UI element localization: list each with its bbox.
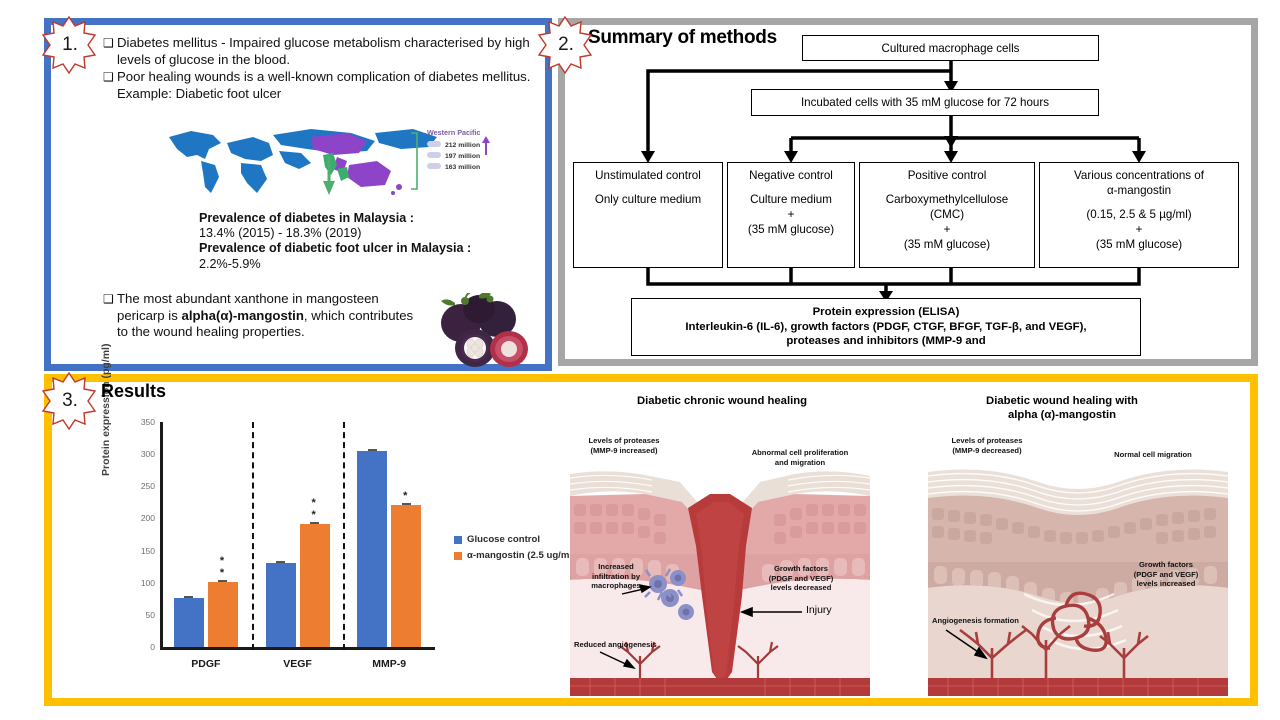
flow-box-title: Positive control [864, 168, 1030, 183]
map-value-0: 212 million [445, 142, 480, 149]
list-item: ❑ Diabetes mellitus - Impaired glucose m… [103, 35, 543, 68]
section-badge-number: 3. [60, 390, 78, 412]
wound-illustration-chronic: Levels of proteases (MMP-9 increased) Ab… [570, 434, 870, 696]
annotation-angiogenesis-formation: Angiogenesis formation [932, 616, 1019, 626]
list-item: ❑ Poor healing wounds is a well-known co… [103, 69, 543, 102]
illustration-title-left: Diabetic chronic wound healing [572, 394, 872, 408]
flow-box-line: proteases and inhibitors (MMP-9 and [636, 334, 1136, 349]
chart-significance-marker: * [312, 497, 316, 509]
chart-error-bar [368, 449, 377, 451]
diabetes-prevalence-value: 13.4% (2015) - 18.3% (2019) [199, 226, 539, 241]
mangosteen-text-bold: alpha(α)-mangostin [182, 308, 304, 323]
annotation-line: (PDGF and VEGF) [746, 574, 856, 584]
annotation-line: and migration [738, 458, 862, 468]
chart-x-tick-label: PDGF [191, 658, 220, 670]
methods-panel: Cultured macrophage cells Incubated cell… [558, 18, 1258, 366]
checkbox-bullet-icon: ❑ [103, 69, 117, 102]
annotation-growth-factors-left: Growth factors (PDGF and VEGF) levels de… [746, 564, 856, 593]
annotation-line: infiltration by [576, 572, 656, 582]
chart-x-tick-label: MMP-9 [372, 658, 406, 670]
flow-box-line: (35 mM glucose) [1044, 237, 1234, 252]
chart-y-tick: 150 [141, 546, 155, 556]
illustration-title-right-line1: Diabetic wound healing with [912, 394, 1212, 408]
flow-box-line: Only culture medium [578, 192, 718, 207]
chart-x-tick-label: VEGF [283, 658, 312, 670]
section-badge-number: 2. [556, 34, 574, 56]
chart-bar [300, 524, 330, 647]
flow-box-line: (35 mM glucose) [732, 222, 850, 237]
annotation-line: (MMP-9 decreased) [938, 446, 1036, 456]
flow-box-label: Incubated cells with 35 mM glucose for 7… [756, 95, 1094, 110]
legend-item: α-mangostin (2.5 ug/ml) [454, 550, 575, 561]
illustration-title-right-line2: alpha (α)-mangostin [912, 408, 1212, 422]
list-item-label: Diabetes mellitus - Impaired glucose met… [117, 35, 543, 68]
chart-y-tick: 300 [141, 449, 155, 459]
flow-box-line: Protein expression (ELISA) [636, 305, 1136, 320]
legend-label: Glucose control [467, 534, 540, 545]
annotation-line: levels decreased [746, 583, 856, 593]
methods-flowchart: Cultured macrophage cells Incubated cell… [565, 25, 1251, 359]
annotation-normal-migration: Normal cell migration [1098, 450, 1208, 460]
flow-box-line: + [1044, 222, 1234, 237]
legend-swatch-icon [454, 536, 462, 544]
mangosteen-bullet-label: The most abundant xanthone in mangosteen… [117, 291, 423, 341]
annotation-line: macrophages [576, 581, 656, 591]
illustration-title-right: Diabetic wound healing with alpha (α)-ma… [912, 394, 1212, 422]
annotation-line: Levels of proteases [938, 436, 1036, 446]
map-value-2: 163 million [445, 164, 480, 171]
chart-error-bar [276, 561, 285, 563]
flow-box-line: Interleukin-6 (IL-6), growth factors (PD… [636, 320, 1136, 335]
diabetes-prevalence-header: Prevalence of diabetes in Malaysia : [199, 211, 539, 226]
chart-y-axis-label: Protein expression (pg/ml) [100, 344, 112, 476]
intro-bullet-list: ❑ Diabetes mellitus - Impaired glucose m… [103, 35, 543, 103]
annotation-line: (MMP-9 increased) [576, 446, 672, 456]
flow-box-line: Carboxymethylcellulose [864, 192, 1030, 207]
chart-y-tick: 250 [141, 481, 155, 491]
legend-item: Glucose control [454, 534, 575, 545]
flow-box-title: Various concentrations of [1044, 168, 1234, 183]
section-badge-3: 3. [40, 372, 98, 430]
section-badge-1: 1. [40, 16, 98, 74]
chart-bar [208, 582, 238, 647]
map-region-label: Western Pacific [427, 128, 480, 137]
ulcer-prevalence-header: Prevalence of diabetic foot ulcer in Mal… [199, 241, 539, 256]
checkbox-bullet-icon: ❑ [103, 35, 117, 68]
flow-box-line: + [732, 207, 850, 222]
legend-swatch-icon [454, 552, 462, 560]
prevalence-statistics: Prevalence of diabetes in Malaysia : 13.… [199, 211, 539, 272]
annotation-reduced-angiogenesis: Reduced angiogenesis [574, 640, 657, 650]
chart-error-bar [218, 580, 227, 582]
chart-y-tick: 100 [141, 578, 155, 588]
chart-error-bar [310, 522, 319, 524]
flow-box-cultured-cells: Cultured macrophage cells [802, 35, 1099, 61]
chart-legend: Glucose control α-mangostin (2.5 ug/ml) [454, 534, 575, 566]
annotation-injury: Injury [806, 604, 832, 616]
flow-box-title: Negative control [732, 168, 850, 183]
legend-label: α-mangostin (2.5 ug/ml) [467, 550, 575, 561]
annotation-line: Abnormal cell proliferation [738, 448, 862, 458]
chart-error-bar [402, 503, 411, 505]
chart-bar [391, 505, 421, 647]
chart-y-tick: 350 [141, 417, 155, 427]
section-badge-number: 1. [60, 34, 78, 56]
protein-expression-bar-chart: Protein expression (pg/ml) 0501001502002… [102, 416, 557, 686]
chart-bar [174, 598, 204, 647]
annotation-line: (PDGF and VEGF) [1114, 570, 1218, 580]
annotation-proteases-right: Levels of proteases (MMP-9 decreased) [938, 436, 1036, 455]
annotation-line: Levels of proteases [576, 436, 672, 446]
chart-plot-area: 050100150200250300350**PDGF**VEGF*MMP-9 [160, 422, 435, 650]
flow-box-line: Culture medium [732, 192, 850, 207]
results-panel: Protein expression (pg/ml) 0501001502002… [44, 374, 1258, 706]
annotation-line: Growth factors [746, 564, 856, 574]
annotation-growth-factors-right: Growth factors (PDGF and VEGF) levels in… [1114, 560, 1218, 589]
annotation-proliferation: Abnormal cell proliferation and migratio… [738, 448, 862, 467]
flow-box-protein-expression: Protein expression (ELISA) Interleukin-6… [631, 298, 1141, 356]
chart-bar [357, 451, 387, 647]
map-value-1: 197 million [445, 153, 480, 160]
chart-y-axis [160, 422, 163, 650]
chart-error-bar [184, 596, 193, 598]
flow-box-negative-control: Negative control Culture medium + (35 mM… [727, 162, 855, 268]
annotation-macrophages: Increased infiltration by macrophages [576, 562, 656, 591]
ulcer-prevalence-value: 2.2%-5.9% [199, 257, 539, 272]
flow-box-label: Cultured macrophage cells [807, 41, 1094, 56]
chart-x-axis [160, 647, 435, 650]
chart-bar [266, 563, 296, 647]
chart-significance-marker: * [220, 567, 224, 579]
chart-group-divider [252, 422, 254, 650]
checkbox-bullet-icon: ❑ [103, 291, 117, 341]
flow-box-line: (35 mM glucose) [864, 237, 1030, 252]
flow-box-incubated-cells: Incubated cells with 35 mM glucose for 7… [751, 89, 1099, 116]
chart-significance-marker: * [220, 555, 224, 567]
flow-box-unstimulated-control: Unstimulated control Only culture medium [573, 162, 723, 268]
chart-group-divider [343, 422, 345, 650]
chart-significance-marker: * [403, 490, 407, 502]
list-item-label: Poor healing wounds is a well-known comp… [117, 69, 543, 102]
page-title-methods: Summary of methods [588, 27, 777, 49]
introduction-panel: ❑ Diabetes mellitus - Impaired glucose m… [44, 18, 552, 371]
wound-illustration-mangostin: Levels of proteases (MMP-9 decreased) No… [928, 434, 1228, 696]
annotation-proteases-left: Levels of proteases (MMP-9 increased) [576, 436, 672, 455]
mangosteen-fruit-image [435, 293, 531, 371]
chart-y-tick: 0 [150, 642, 155, 652]
chart-significance-marker: * [312, 509, 316, 521]
annotation-line: Increased [576, 562, 656, 572]
world-map-figure: Western Pacific 212 million 197 million … [161, 121, 491, 201]
chart-y-tick: 200 [141, 513, 155, 523]
flow-box-title: Unstimulated control [578, 168, 718, 183]
section-badge-2: 2. [536, 16, 594, 74]
chart-y-tick: 50 [146, 610, 155, 620]
flow-box-various-concentrations: Various concentrations of α-mangostin (0… [1039, 162, 1239, 268]
flow-box-line: (CMC) [864, 207, 1030, 222]
page-title-results: Results [101, 381, 166, 402]
mangosteen-bullet: ❑ The most abundant xanthone in mangoste… [103, 291, 423, 341]
flow-box-positive-control: Positive control Carboxymethylcellulose … [859, 162, 1035, 268]
annotation-line: levels increased [1114, 579, 1218, 589]
flow-box-title-2: α-mangostin [1044, 183, 1234, 198]
flow-box-line: (0.15, 2.5 & 5 µg/ml) [1044, 207, 1234, 222]
flow-box-line: + [864, 222, 1030, 237]
annotation-line: Growth factors [1114, 560, 1218, 570]
